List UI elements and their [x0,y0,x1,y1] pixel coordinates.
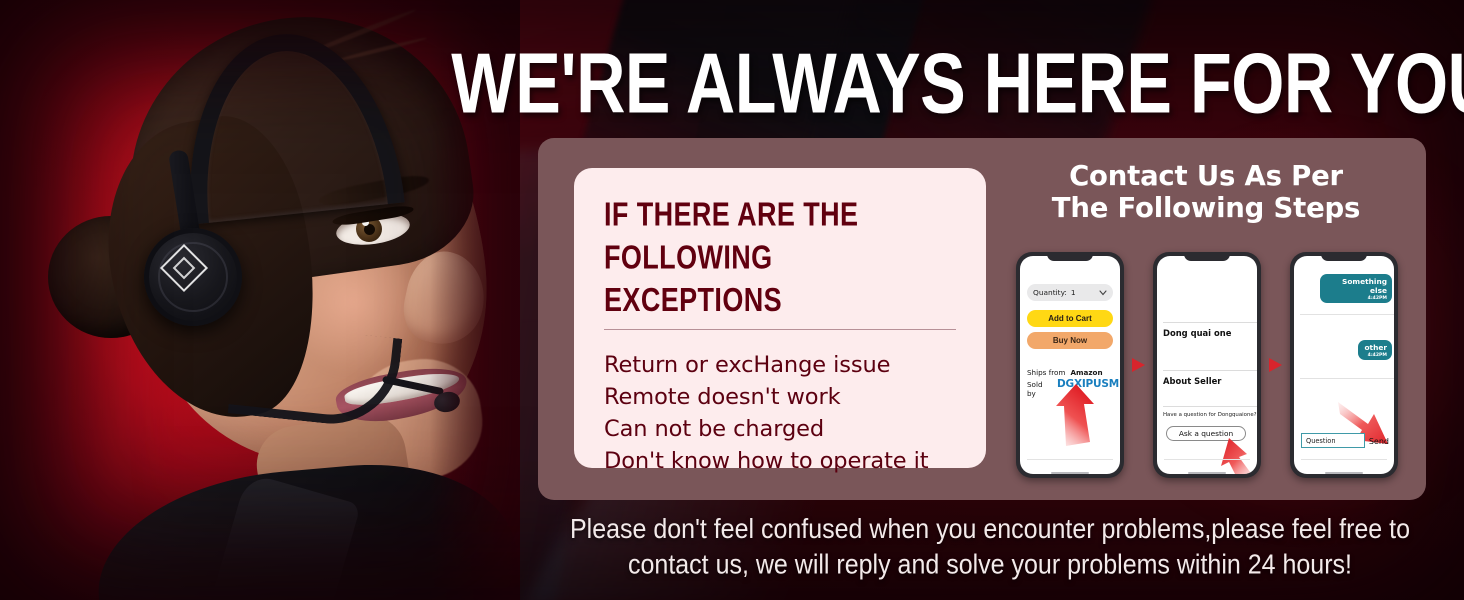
list-item: Remote doesn't work [604,382,956,414]
caption-line-2: contact us, we will reply and solve your… [520,547,1460,582]
exceptions-card-title: IF THERE ARE THE FOLLOWING EXCEPTIONS [574,194,986,322]
phone-screen: Quantity: 1 Add to Cart Buy Now Ships fr… [1020,256,1120,474]
sold-by-label: Sold by [1027,380,1052,398]
phone-home-indicator [1051,472,1089,475]
steps-phone-row: Quantity: 1 Add to Cart Buy Now Ships fr… [1016,250,1398,480]
add-to-cart-button[interactable]: Add to Cart [1027,310,1113,327]
steps-heading: Contact Us As Per The Following Steps [1016,160,1396,225]
red-arrow-pointer-icon [1054,384,1102,446]
content-panel: IF THERE ARE THE FOLLOWING EXCEPTIONS Re… [538,138,1426,500]
step-arrow-1 [1131,354,1147,376]
phone-mockup-step-1: Quantity: 1 Add to Cart Buy Now Ships fr… [1016,252,1124,478]
list-item: Can not be charged [604,414,956,446]
chevron-down-icon [1099,290,1107,296]
phone-home-indicator [1188,472,1226,475]
divider [1301,459,1387,460]
exceptions-title-line-1: IF THERE ARE THE [604,194,956,237]
product-title: Dong quai one [1163,322,1257,338]
steps-title-line-1: Contact Us As Per [1016,160,1396,192]
ships-from-row: Ships from Amazon [1027,368,1119,377]
phone-screen: Dong quai one About Seller Have a questi… [1157,256,1257,474]
caption-line-1: Please don't feel confused when you enco… [520,512,1460,547]
divider [1027,459,1113,460]
quantity-value: 1 [1071,288,1076,297]
phone-screen: Something else 4:42PM other 4:42PM [1294,256,1394,474]
about-seller-heading[interactable]: About Seller [1163,370,1257,386]
send-button[interactable]: Send [1369,437,1389,446]
exceptions-title-line-2: FOLLOWING EXCEPTIONS [604,237,956,323]
steps-title-line-2: The Following Steps [1016,192,1396,224]
quantity-selector[interactable]: Quantity: 1 [1027,284,1113,301]
divider [1300,314,1394,315]
ships-from-value: Amazon [1070,368,1102,377]
question-input[interactable]: Question [1301,433,1365,448]
footer-caption: Please don't feel confused when you enco… [520,512,1460,583]
phone-notch [1184,252,1230,261]
chat-message-text: other [1364,343,1387,352]
chat-message-text: Something else [1342,277,1387,295]
buy-now-button[interactable]: Buy Now [1027,332,1113,349]
promo-banner: WE'RE ALWAYS HERE FOR YOU! IF THERE ARE … [0,0,1464,600]
phone-mockup-step-2: Dong quai one About Seller Have a questi… [1153,252,1261,478]
ships-from-label: Ships from [1027,368,1065,377]
step-arrow-2 [1268,354,1284,376]
chat-bubble-outgoing: Something else 4:42PM [1320,274,1392,303]
page-title: WE'RE ALWAYS HERE FOR YOU! [511,33,1460,133]
list-item: Return or excHange issue [604,350,956,382]
chat-timestamp: 4:42PM [1363,353,1387,358]
red-arrow-pointer-icon [1209,438,1255,474]
phone-notch [1047,252,1093,261]
chat-timestamp: 4:42PM [1325,296,1387,301]
phone-home-indicator [1325,472,1363,475]
arrow-right-icon [1132,357,1146,373]
exceptions-list: Return or excHange issue Remote doesn't … [574,330,986,478]
arrow-right-icon [1269,357,1283,373]
phone-mockup-step-3: Something else 4:42PM other 4:42PM [1290,252,1398,478]
divider [1300,378,1394,379]
exceptions-card: IF THERE ARE THE FOLLOWING EXCEPTIONS Re… [574,168,986,468]
chat-bubble-outgoing: other 4:42PM [1358,340,1392,360]
phone-notch [1321,252,1367,261]
question-prompt: Have a question for Dongquaione? [1163,406,1257,418]
list-item: Don't know how to operate it [604,446,956,478]
quantity-label: Quantity: [1033,288,1067,297]
divider [1164,459,1250,460]
